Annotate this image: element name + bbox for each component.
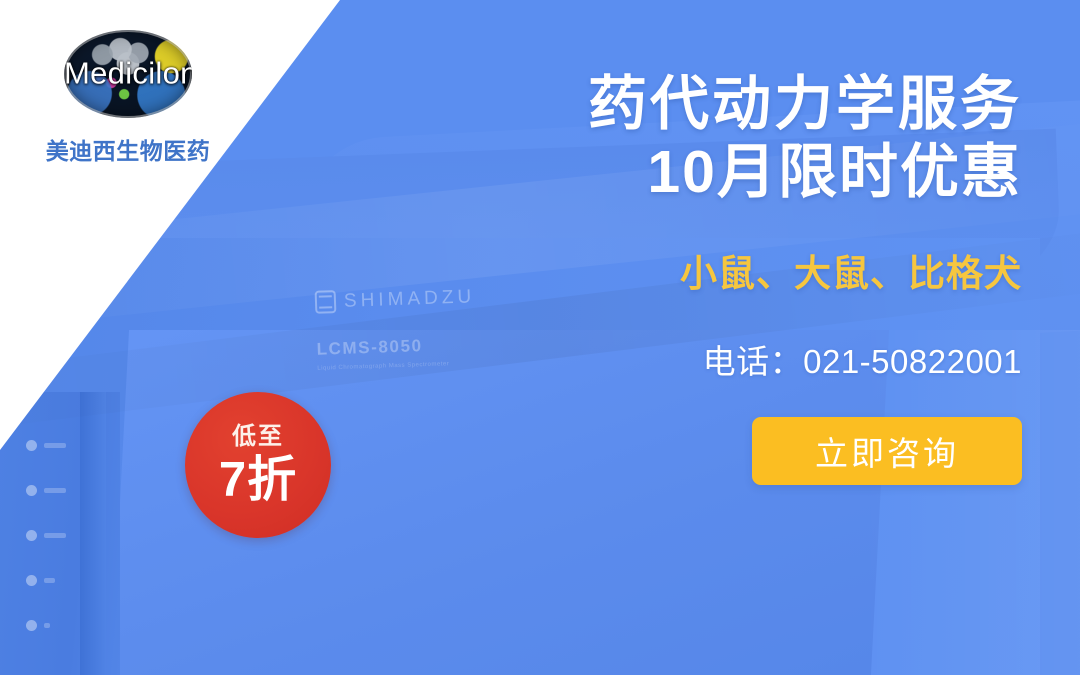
status-led-2 [26,485,66,496]
discount-seal-badge: 低至 7折 [185,392,331,538]
consult-now-button-label: 立即咨询 [815,427,959,475]
headline-line-1: 药代动力学服务 [482,70,1022,138]
status-led-4 [26,575,66,586]
led-label [44,488,66,493]
led-label [44,623,50,628]
led-dot-icon [26,575,37,586]
status-led-1 [26,440,66,451]
headline-line-2: 10月限时优惠 [482,138,1022,206]
discount-seal-value: 7折 [219,456,297,505]
led-label [44,578,55,583]
led-label [44,443,66,448]
contact-phone-text: 电话：021-50822001 [482,335,1022,383]
brand-logo-lockup: Medicilon 美迪西生物医药 [44,30,212,166]
status-led-3 [26,530,66,541]
promo-copy-column: 药代动力学服务 10月限时优惠 小鼠、大鼠、比格犬 电话：021-5082200… [482,70,1022,485]
medicilon-logo-oval-icon: Medicilon [64,30,192,118]
species-subheadline: 小鼠、大鼠、比格犬 [482,243,1022,297]
instrument-status-light-panel [26,440,66,631]
consult-now-button[interactable]: 立即咨询 [752,417,1022,485]
led-dot-icon [26,485,37,496]
instrument-brand-label: SHIMADZU [344,286,476,313]
shimadzu-logo-mark-icon [315,290,337,314]
promotional-banner: SHIMADZU LCMS-8050 Liquid Chromatograph … [0,0,1080,675]
instrument-side-edge [80,392,106,675]
led-dot-icon [26,440,37,451]
led-dot-icon [26,530,37,541]
headline-block: 药代动力学服务 10月限时优惠 [482,70,1022,207]
status-led-5 [26,620,66,631]
company-name-chinese: 美迪西生物医药 [44,132,212,166]
led-dot-icon [26,620,37,631]
cta-row: 立即咨询 [482,417,1022,485]
logo-wordmark: Medicilon [64,55,192,91]
instrument-branding: SHIMADZU LCMS-8050 Liquid Chromatograph … [315,285,478,374]
instrument-model-label: LCMS-8050 [316,334,477,360]
led-label [44,533,66,538]
discount-seal-prefix: 低至 [232,425,284,449]
